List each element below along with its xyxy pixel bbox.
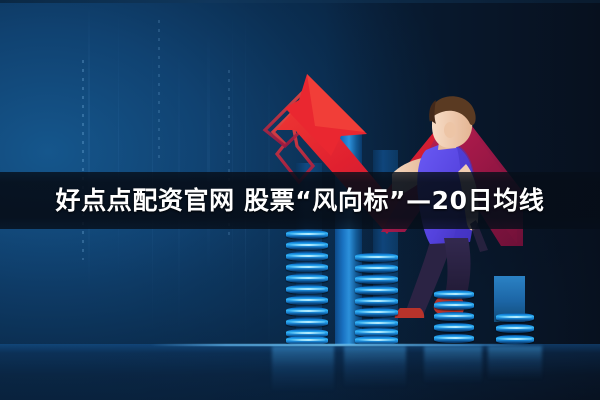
- coin: [355, 286, 398, 295]
- coin: [286, 285, 328, 294]
- promo-banner: 好点点配资官网 股票“风向标”—20日均线: [0, 0, 600, 400]
- coin: [496, 335, 534, 344]
- coin: [286, 252, 328, 261]
- coin: [355, 319, 398, 328]
- coin: [355, 275, 398, 284]
- coin-stack-2-reflection: [344, 346, 406, 388]
- coin: [496, 324, 534, 333]
- coin: [434, 290, 474, 299]
- coin: [286, 307, 328, 316]
- coin-stack-2: [355, 253, 398, 345]
- coin-stack-3-reflection: [424, 346, 482, 384]
- coin: [286, 318, 328, 327]
- coin: [434, 334, 474, 343]
- coin: [286, 263, 328, 272]
- coin: [434, 301, 474, 310]
- coin: [286, 230, 328, 239]
- coin: [286, 241, 328, 250]
- coin: [286, 274, 328, 283]
- coin: [496, 313, 534, 322]
- coin-stack-1-reflection: [272, 346, 334, 392]
- coin-stack-1: [286, 230, 328, 345]
- coin: [355, 308, 398, 317]
- coin: [355, 253, 398, 262]
- coin-stack-3: [434, 290, 474, 345]
- coin: [355, 264, 398, 273]
- coin-stack-4-reflection: [488, 346, 542, 380]
- coin: [434, 323, 474, 332]
- coin: [434, 312, 474, 321]
- coin: [286, 296, 328, 305]
- coin-stack-4: [496, 313, 534, 345]
- coin: [355, 297, 398, 306]
- headline-container: 好点点配资官网 股票“风向标”—20日均线: [0, 183, 600, 219]
- page-title: 好点点配资官网 股票“风向标”—20日均线: [56, 184, 545, 218]
